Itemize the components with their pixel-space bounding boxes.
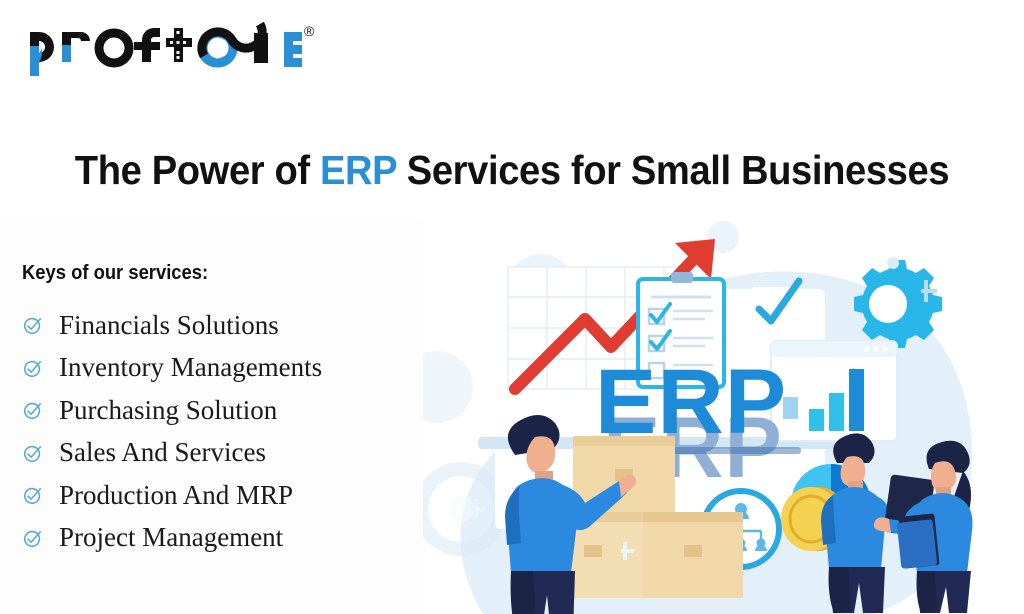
- list-item-label: Project Management: [59, 524, 283, 551]
- registered-trademark-mark: ®: [304, 24, 314, 38]
- services-list: Financials Solutions Inventory Managemen…: [22, 304, 422, 559]
- proficode-logo-icon: [22, 18, 302, 80]
- gear-icon: [854, 260, 942, 348]
- list-item-label: Inventory Managements: [59, 354, 322, 381]
- check-circle-icon: [22, 314, 44, 336]
- services-heading: Keys of our services:: [22, 262, 208, 285]
- list-item[interactable]: Production And MRP: [22, 474, 422, 517]
- list-item-label: Purchasing Solution: [59, 397, 277, 424]
- title-part-2: Services for Small Businesses: [397, 147, 950, 193]
- check-circle-icon: [22, 399, 44, 421]
- list-item[interactable]: Project Management: [22, 517, 422, 560]
- brand-logo[interactable]: ®: [22, 18, 314, 80]
- list-item[interactable]: Inventory Managements: [22, 347, 422, 390]
- list-item[interactable]: Sales And Services: [22, 432, 422, 475]
- erp-illustration-graphic: ERP ERP: [423, 219, 1024, 614]
- list-item[interactable]: Financials Solutions: [22, 304, 422, 347]
- services-panel: Keys of our services: Financials Solutio…: [0, 219, 423, 614]
- check-circle-icon: [22, 484, 44, 506]
- checkmark-icon: [751, 281, 799, 329]
- title-part-1: The Power of: [75, 147, 320, 193]
- title-accent-erp: ERP: [320, 147, 397, 193]
- erp-illustration: ERP ERP: [423, 219, 1024, 614]
- list-item-label: Production And MRP: [59, 482, 293, 509]
- check-circle-icon: [22, 442, 44, 464]
- check-circle-icon: [22, 527, 44, 549]
- list-item-label: Financials Solutions: [59, 312, 279, 339]
- list-item-label: Sales And Services: [59, 439, 266, 466]
- erp-marketing-banner: ® The Power of ERP Services for Small Bu…: [0, 0, 1024, 614]
- bar-chart-window-icon: [771, 341, 897, 441]
- check-circle-icon: [22, 357, 44, 379]
- page-header: ®: [0, 0, 1024, 105]
- list-item[interactable]: Purchasing Solution: [22, 389, 422, 432]
- page-title: The Power of ERP Services for Small Busi…: [36, 148, 988, 194]
